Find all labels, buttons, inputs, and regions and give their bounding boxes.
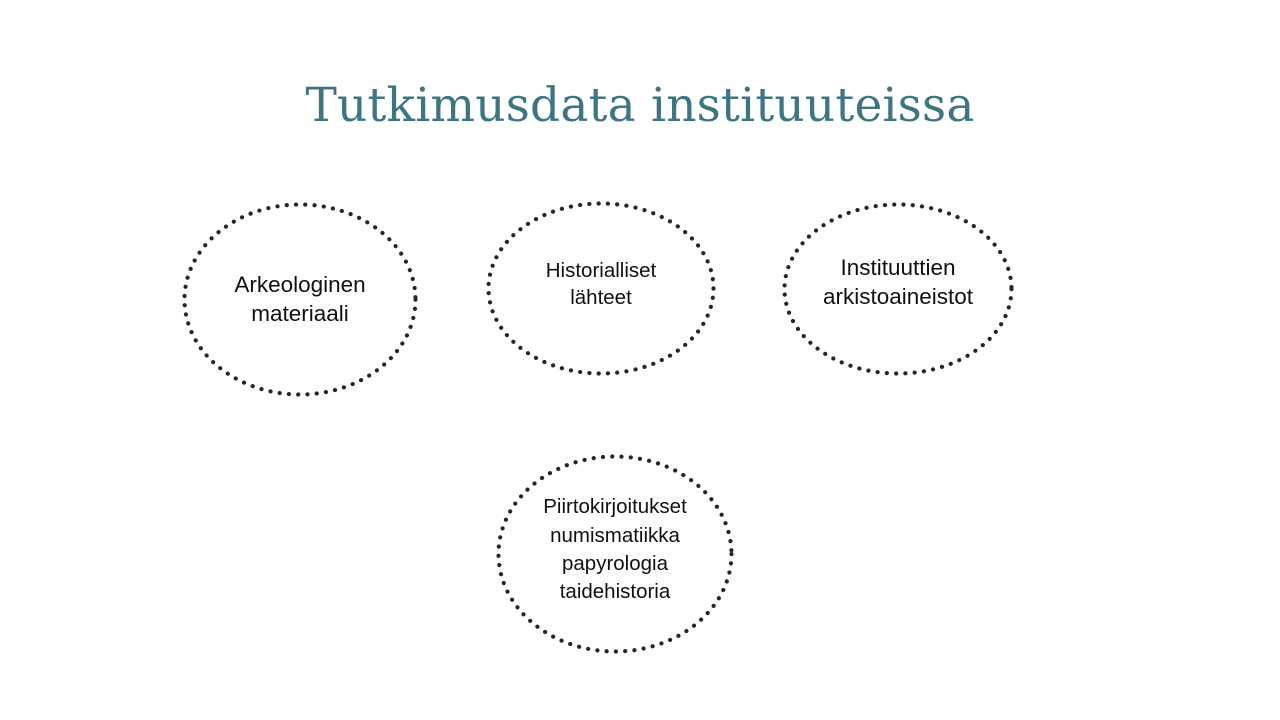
bubble-historialliset-label: Historialliset lähteet: [486, 258, 716, 310]
bubble-historialliset[interactable]: Historialliset lähteet: [486, 201, 716, 376]
bubble-piirtokirjoitukset-label: Piirtokirjoitukset numismatiikka papyrol…: [496, 493, 734, 606]
bubble-arkeologinen-label: Arkeologinen materiaali: [182, 271, 418, 329]
bubble-instituuttien[interactable]: Instituuttien arkistoaineistot: [782, 202, 1014, 376]
page-title: Tutkimusdata instituuteissa: [0, 80, 1280, 133]
slide-canvas: Tutkimusdata instituuteissa Arkeologinen…: [0, 0, 1280, 720]
bubble-arkeologinen[interactable]: Arkeologinen materiaali: [182, 202, 418, 397]
bubble-instituuttien-label: Instituuttien arkistoaineistot: [782, 254, 1014, 312]
bubble-piirtokirjoitukset[interactable]: Piirtokirjoitukset numismatiikka papyrol…: [496, 454, 734, 654]
